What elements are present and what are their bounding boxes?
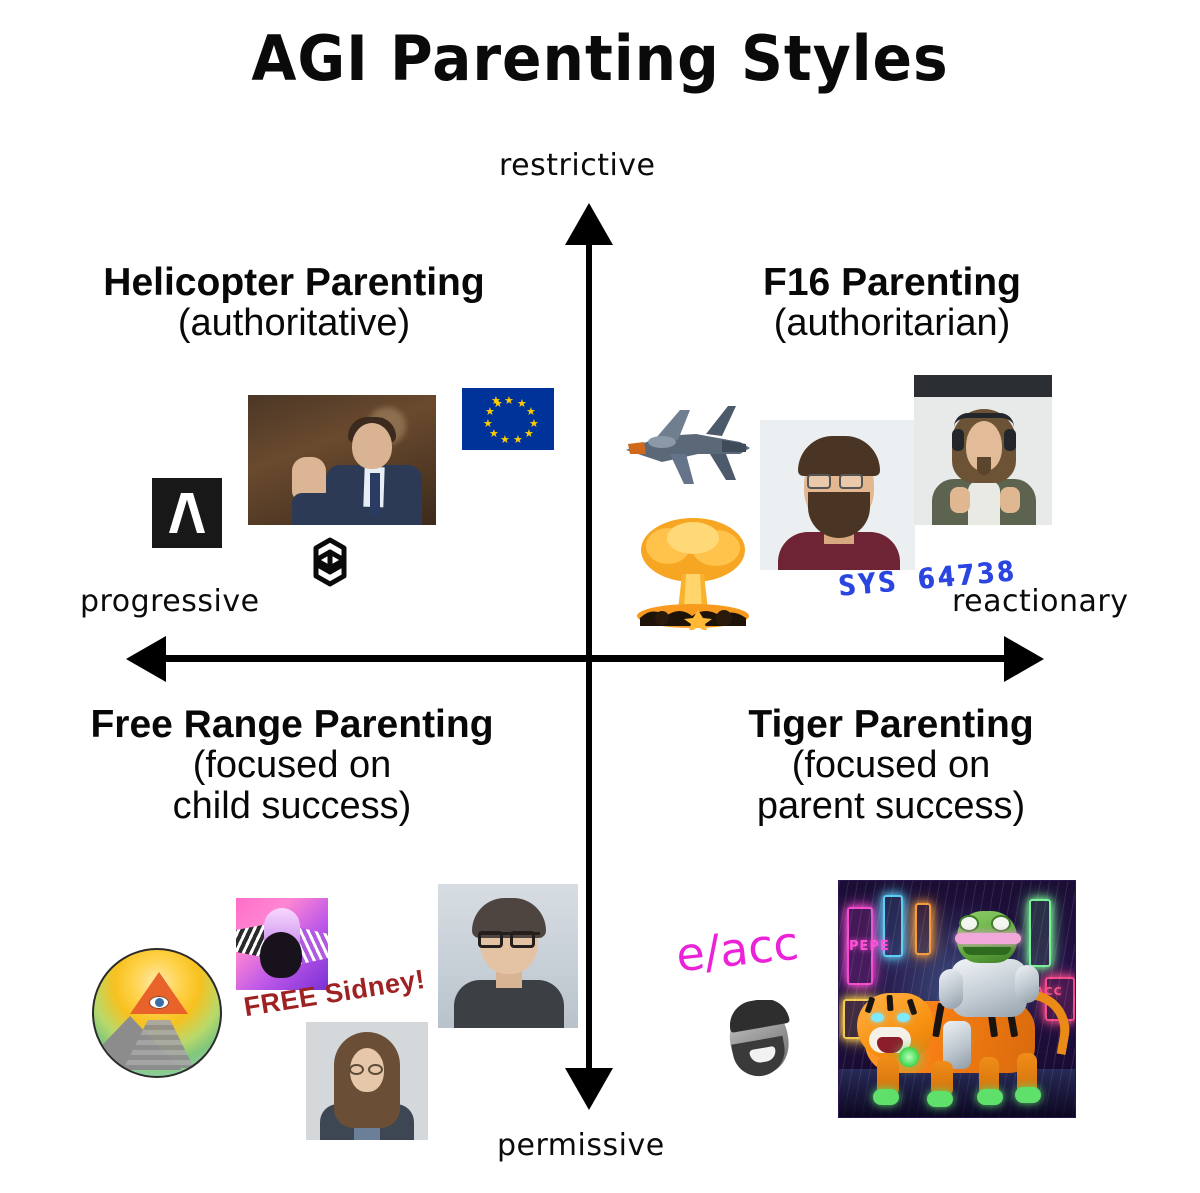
arrow-right-icon — [1004, 636, 1044, 682]
cyber-tiger-pepe-image: PEPE ACC — [838, 880, 1076, 1118]
quadrant-heading-tiger: Tiger Parenting (focused on parent succe… — [608, 704, 1174, 826]
anthropic-logo — [152, 478, 222, 548]
sam-altman-senate-photo — [248, 395, 436, 525]
quadrant-title-tiger: Tiger Parenting — [608, 704, 1174, 745]
f16-jet-icon — [622, 392, 754, 500]
page-title: AGI Parenting Styles — [36, 22, 1164, 95]
quadrant-subtitle-free-range-line1: (focused on — [12, 745, 572, 785]
laughing-face-cutout — [720, 1000, 798, 1078]
arrow-down-icon — [565, 1068, 613, 1110]
meme-canvas: AGI Parenting Styles restrictive permiss… — [0, 0, 1200, 1193]
quadrant-heading-f16: F16 Parenting (authoritarian) — [612, 262, 1172, 344]
quadrant-subtitle-f16: (authoritarian) — [612, 303, 1172, 343]
sydney-avatar — [236, 898, 328, 990]
axis-label-restrictive: restrictive — [499, 148, 656, 183]
illuminati-pyramid-icon — [92, 948, 222, 1078]
eu-flag: ★ ★ ★ ★ ★ ★ ★ ★ ★ ★ ★ ★ — [462, 388, 554, 450]
horizontal-axis-line — [160, 655, 1010, 662]
headphones-webcam-portrait — [914, 375, 1052, 525]
axis-label-progressive: progressive — [80, 584, 260, 619]
quadrant-subtitle-tiger-line2: parent success) — [608, 786, 1174, 826]
axis-label-permissive: permissive — [497, 1128, 665, 1163]
mushroom-cloud-icon — [628, 510, 758, 630]
quadrant-title-f16: F16 Parenting — [612, 262, 1172, 303]
quadrant-title-free-range: Free Range Parenting — [12, 704, 572, 745]
quadrant-subtitle-free-range-line2: child success) — [12, 786, 572, 826]
quadrant-subtitle-helicopter: (authoritative) — [20, 303, 568, 343]
quadrant-heading-free-range: Free Range Parenting (focused on child s… — [12, 704, 572, 826]
quadrant-title-helicopter: Helicopter Parenting — [20, 262, 568, 303]
openai-logo — [298, 530, 362, 594]
long-haired-glasses-portrait — [306, 1022, 428, 1140]
quadrant-heading-helicopter: Helicopter Parenting (authoritative) — [20, 262, 568, 344]
yann-lecun-portrait — [438, 884, 578, 1028]
quadrant-subtitle-tiger-line1: (focused on — [608, 745, 1174, 785]
eacc-annotation: e/acc — [674, 916, 802, 983]
bearded-man-portrait — [760, 420, 915, 570]
arrow-up-icon — [565, 203, 613, 245]
arrow-left-icon — [126, 636, 166, 682]
